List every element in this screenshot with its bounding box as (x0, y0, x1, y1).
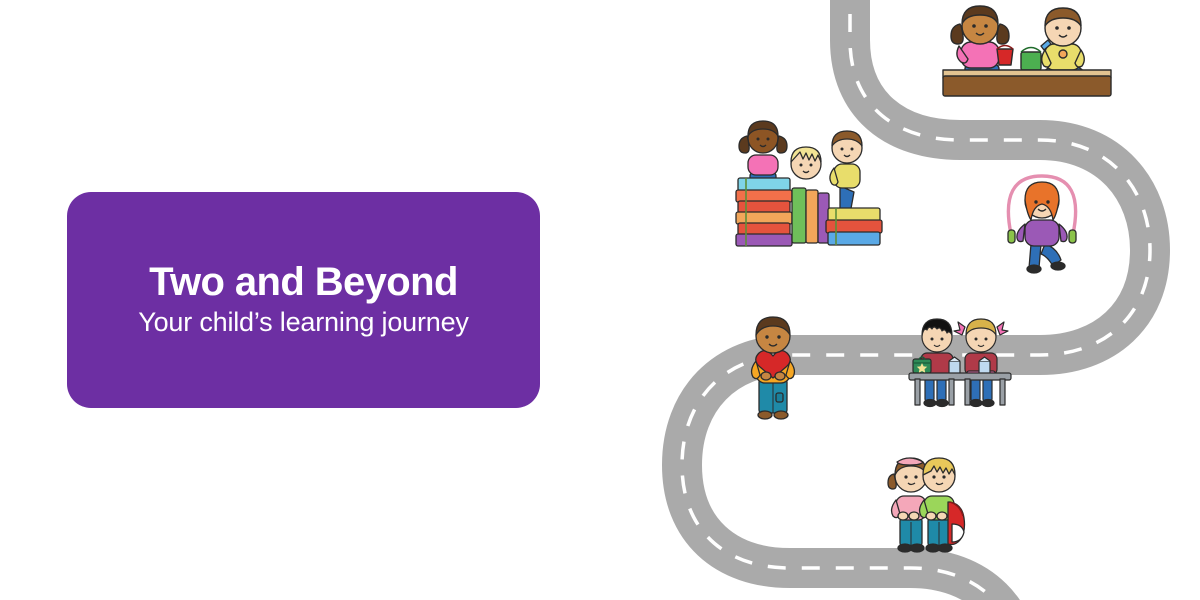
child-blond-behind-books (791, 147, 821, 179)
child-girl-pink (951, 6, 1013, 78)
banner-root: Two and Beyond Your child’s learning jou… (0, 0, 1200, 600)
scene-heart-boy (742, 313, 804, 421)
scene-lunch-table (905, 315, 1015, 415)
scene-jumprope (995, 168, 1090, 273)
scene-bookstack (728, 108, 888, 248)
scene-sandbox (935, 2, 1115, 107)
book-stack-right (826, 208, 882, 245)
page-title: Two and Beyond (149, 261, 458, 303)
book-stack-left (736, 178, 792, 246)
scene-backpack (878, 448, 983, 558)
page-subtitle: Your child’s learning journey (138, 307, 468, 338)
book-stack-middle-upright (792, 188, 829, 243)
promo-card[interactable]: Two and Beyond Your child’s learning jou… (67, 192, 540, 408)
child-boy-yellow (1021, 8, 1084, 79)
child-girl-on-books (739, 121, 787, 182)
